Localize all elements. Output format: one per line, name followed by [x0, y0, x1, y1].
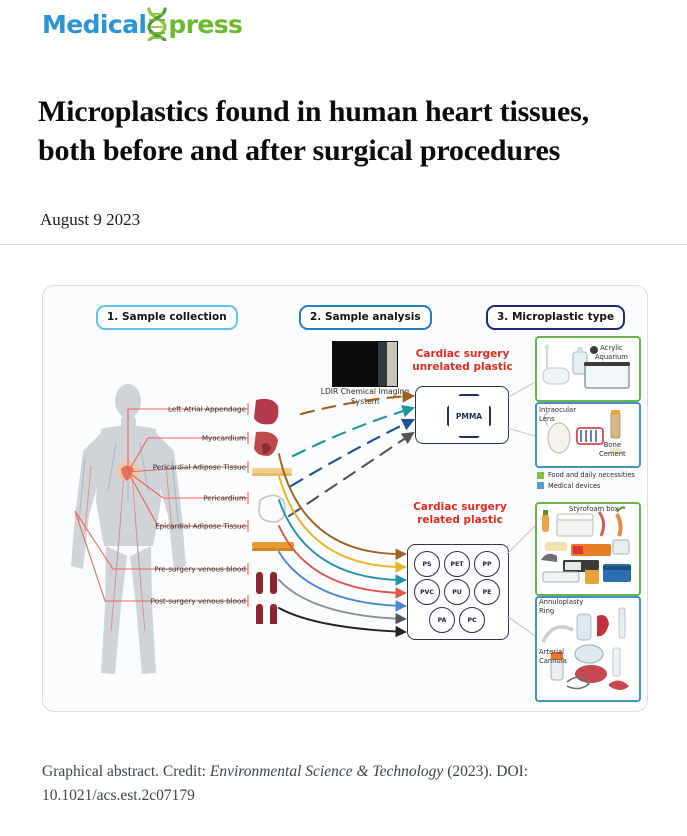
legend-item-food: Food and daily necessities	[537, 470, 635, 481]
product-label-annuloplasty-ring: Annuloplasty Ring	[539, 598, 583, 616]
legend-label-food: Food and daily necessities	[548, 470, 635, 481]
site-logo[interactable]: Medical press	[42, 6, 242, 42]
publish-date: August 9 2023	[40, 210, 140, 230]
product-panel-food-daily-2	[535, 502, 641, 596]
caption-journal: Environmental Science & Technology	[210, 763, 443, 780]
legend-swatch-blue	[537, 482, 544, 489]
product-label-styrofoam-box: Styrofoam box	[569, 505, 619, 514]
legend-label-medical: Medical devices	[548, 481, 600, 492]
figure-caption: Graphical abstract. Credit: Environmenta…	[42, 760, 654, 808]
header-divider	[0, 244, 687, 245]
product-label-arterial-cannula: Arterial Cannula	[539, 648, 567, 666]
logo-text-medical: Medical	[42, 12, 146, 37]
graphical-abstract-figure: 1. Sample collection 2. Sample analysis …	[42, 285, 648, 712]
dna-helix-icon	[144, 7, 170, 41]
product-label-acrylic-aquarium: Acrylic Aquarium	[595, 344, 628, 362]
page-title: Microplastics found in human heart tissu…	[38, 92, 653, 170]
legend-item-medical: Medical devices	[537, 481, 635, 492]
product-label-bone-cement: Bone Cement	[599, 441, 626, 459]
logo-text-press: press	[168, 12, 242, 37]
figure-legend: Food and daily necessities Medical devic…	[537, 470, 635, 491]
caption-prefix: Graphical abstract. Credit:	[42, 763, 210, 780]
legend-swatch-green	[537, 472, 544, 479]
product-label-intraocular-lens: Intraocular Lens	[539, 406, 576, 424]
